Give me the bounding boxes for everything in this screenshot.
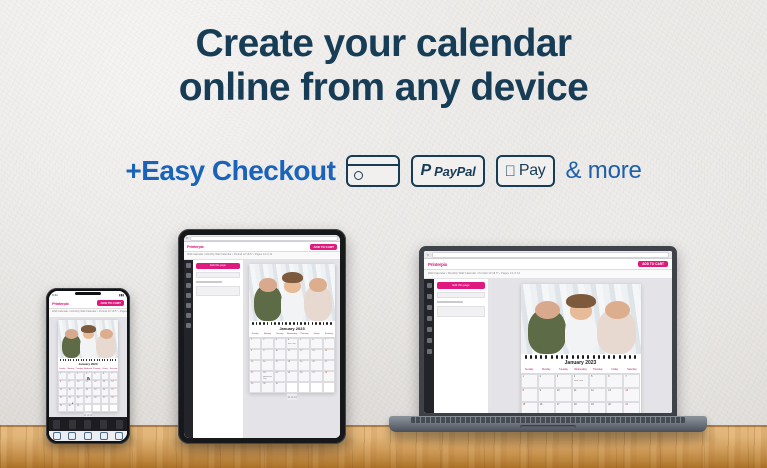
rail-icon-background[interactable] xyxy=(186,313,191,318)
binding-ring-icon xyxy=(252,322,254,325)
calendar-day-cell[interactable]: 14 xyxy=(109,380,118,388)
binding-ring-icon xyxy=(107,359,108,361)
calendar-cell-blank xyxy=(298,382,310,393)
binding-ring-icon xyxy=(97,359,98,361)
photo-hair-kid xyxy=(81,325,96,333)
binding-ring-icon xyxy=(300,322,302,325)
binding-ring-icon xyxy=(551,355,553,359)
calendar-day-cell[interactable]: 25 xyxy=(286,371,298,382)
calendar-day-event: Anniversary Day xyxy=(263,376,271,380)
page-indicator[interactable]: 14 of 14 xyxy=(287,393,296,400)
calendar-day-number: 17 xyxy=(77,389,79,391)
calendar-day-number: 20 xyxy=(312,361,314,363)
binding-ring-icon xyxy=(613,355,615,359)
binding-ring-icon xyxy=(572,355,574,359)
calendar-day-cell[interactable]: 12 xyxy=(298,349,310,360)
calendar-day-cell[interactable]: 19 xyxy=(92,388,101,396)
layout-field[interactable] xyxy=(437,292,485,298)
calendar-day-cell[interactable]: 5 xyxy=(298,338,310,349)
calendar-day-number: 4 xyxy=(574,375,575,378)
calendar-page[interactable]: January 2023 SundayMondayTuesdayWednesda… xyxy=(58,320,118,412)
calendar-day-cell[interactable]: 17 xyxy=(555,402,572,413)
calendar-day-cell[interactable]: 13 xyxy=(606,388,623,402)
phone-nav-bar[interactable] xyxy=(49,431,127,441)
calendar-day-cell[interactable]: 21 xyxy=(623,402,640,413)
calendar-day-number: 13 xyxy=(103,381,105,383)
calendar-day-cell[interactable]: 8 xyxy=(521,388,538,402)
calendar-day-cell[interactable]: 3 xyxy=(274,338,286,349)
calendar-day-number: 24 xyxy=(77,397,79,399)
address-bar[interactable] xyxy=(190,236,338,241)
calendar-day-number: 18 xyxy=(86,389,88,391)
calendar-day-cell[interactable]: 1 xyxy=(249,338,261,349)
calendar-day-number: 9 xyxy=(69,381,70,383)
calendar-day-cell[interactable]: 31 xyxy=(274,382,286,393)
binding-ring-icon xyxy=(271,322,273,325)
calendar-day-cell[interactable]: 27 xyxy=(310,371,322,382)
rail-icon-layouts[interactable] xyxy=(186,283,191,288)
calendar-day-cell[interactable]: 30 xyxy=(261,382,273,393)
laptop-keyboard[interactable] xyxy=(411,417,685,423)
binding-ring-icon xyxy=(81,359,82,361)
calendar-day-number: 9 xyxy=(540,389,541,392)
photo-dropzone[interactable] xyxy=(196,286,240,296)
family-photo[interactable] xyxy=(58,320,118,358)
binding-ring-icon xyxy=(525,355,527,359)
binding-ring-icon xyxy=(624,355,626,359)
laptop-app: Printerpix ADD TO CART Wall Calendar • M… xyxy=(424,251,672,413)
calendar-day-number: 26 xyxy=(94,397,96,399)
binding-ring-icon xyxy=(545,355,547,359)
binding-ring-icon xyxy=(285,322,287,325)
tablet-screen[interactable]: Printerpix ADD TO CART Wall Calendar • M… xyxy=(184,235,340,438)
binding-ring-icon xyxy=(115,359,116,361)
calendar-grid[interactable]: SundayMondayTuesdayWednesdayThursdayFrid… xyxy=(58,367,118,412)
calendar-day-number: 25 xyxy=(288,372,290,374)
calendar-day-cell[interactable]: 20 xyxy=(101,388,110,396)
calendar-day-cell[interactable]: 19 xyxy=(589,402,606,413)
calendar-day-event: New Year xyxy=(288,343,296,345)
rail-icon-stickers[interactable] xyxy=(427,327,432,332)
easy-checkout-label: +Easy Checkout xyxy=(125,155,335,187)
brand-logo[interactable]: Printerpix xyxy=(187,244,204,249)
calendar-day-number: 31 xyxy=(276,383,278,385)
binding-ring-icon xyxy=(587,355,589,359)
edit-page-button[interactable]: Edit this page xyxy=(196,263,240,269)
card-stripe xyxy=(348,164,398,166)
photo-face-mom xyxy=(100,329,113,339)
forward-icon[interactable] xyxy=(68,432,76,440)
calendar-day-cell[interactable]: 26 xyxy=(298,371,310,382)
calendar-day-cell[interactable]: 5 xyxy=(92,372,101,380)
photo-person-kid xyxy=(80,337,96,358)
calendar-cell-blank xyxy=(101,404,110,412)
phone-status-icons: ▮▮▮ xyxy=(119,293,124,297)
calendar-day-cell[interactable]: 1 xyxy=(58,372,67,380)
calendar-day-cell[interactable]: 21 xyxy=(109,388,118,396)
calendar-cell-blank xyxy=(310,382,322,393)
binding-ring-icon xyxy=(540,355,542,359)
rail-icon-layouts[interactable] xyxy=(427,305,432,310)
calendar-day-cell[interactable]: 16 xyxy=(261,360,273,371)
calendar-day-number: 2 xyxy=(69,373,70,375)
phone-editor-toolbar[interactable] xyxy=(49,417,127,431)
calendar-day-number: 19 xyxy=(591,403,594,406)
calendar-day-number: 8 xyxy=(60,381,61,383)
add-to-cart-button[interactable]: ADD TO CART xyxy=(310,244,337,250)
hero-scene: Create your calendar online from any dev… xyxy=(0,0,767,468)
my-photos-label xyxy=(437,301,463,303)
phone-app: 9:41 ▮▮▮ Printerpix ADD TO CART Wall Cal… xyxy=(49,291,127,441)
add-to-cart-button[interactable]: ADD TO CART xyxy=(97,300,124,306)
calendar-cell-blank xyxy=(92,404,101,412)
calendar-day-cell[interactable]: 12 xyxy=(92,380,101,388)
calendar-day-number: 25 xyxy=(86,397,88,399)
laptop-app-header: Printerpix ADD TO CART xyxy=(424,259,672,270)
rail-icon-settings[interactable] xyxy=(186,323,191,328)
calendar-day-cell[interactable]: 14 xyxy=(323,349,335,360)
rail-icon-settings[interactable] xyxy=(427,349,432,354)
calendar-day-cell[interactable]: 10 xyxy=(555,388,572,402)
calendar-day-cell[interactable]: 24 xyxy=(75,396,84,404)
calendar-grid[interactable]: SundayMondayTuesdayWednesdayThursdayFrid… xyxy=(521,367,641,413)
calendar-day-cell[interactable]: 31 xyxy=(75,404,84,412)
calendar-day-cell[interactable]: 29 xyxy=(58,404,67,412)
calendar-day-cell[interactable]: 10 xyxy=(274,349,286,360)
laptop-browser-chrome[interactable] xyxy=(424,251,672,259)
apple-pay-icon[interactable]:  Pay xyxy=(496,155,555,187)
calendar-day-number: 3 xyxy=(557,375,558,378)
calendar-day-cell[interactable]: 18 xyxy=(572,402,589,413)
editor-side-panel: Edit this page xyxy=(193,260,244,438)
calendar-day-cell[interactable]: 7 xyxy=(109,372,118,380)
calendar-day-cell[interactable]: 30 xyxy=(67,404,76,412)
calendar-day-number: 16 xyxy=(540,403,543,406)
product-breadcrumb: Wall Calendar • Monthly Wall Calendar • … xyxy=(184,252,340,260)
calendar-day-number: 1 xyxy=(523,375,524,378)
paypal-icon[interactable]: P PayPal xyxy=(411,155,484,187)
family-photo[interactable] xyxy=(521,284,641,354)
family-photo[interactable] xyxy=(249,264,335,321)
binding-ring-icon xyxy=(60,359,61,361)
calendar-day-number: 8 xyxy=(251,350,252,352)
calendar-day-number: 18 xyxy=(574,403,577,406)
calendar-day-cell[interactable]: 13 xyxy=(101,380,110,388)
calendar-day-number: 18 xyxy=(288,361,290,363)
photo-person-kid xyxy=(281,289,304,321)
toolbar-icon-photos[interactable] xyxy=(69,420,76,429)
calendar-day-number: 21 xyxy=(325,361,327,363)
calendar-day-number: 14 xyxy=(325,350,327,352)
tabs-icon[interactable] xyxy=(100,432,108,440)
calendar-day-cell[interactable]: 23Anniversary Day xyxy=(67,396,76,404)
rail-icon-stickers[interactable] xyxy=(186,303,191,308)
calendar-day-number: 19 xyxy=(300,361,302,363)
rail-icon-background[interactable] xyxy=(427,338,432,343)
binding-ring-icon xyxy=(297,322,299,325)
calendar-weekday-header: Wednesday xyxy=(572,367,589,374)
calendar-day-cell[interactable]: 7 xyxy=(623,374,640,388)
calendar-day-number: 22 xyxy=(251,372,253,374)
calendar-day-cell[interactable]: 6 xyxy=(606,374,623,388)
editor-side-panel: Edit this page xyxy=(434,279,489,413)
tablet-browser-chrome[interactable] xyxy=(184,235,340,242)
binding-ring-icon xyxy=(274,322,276,325)
binding-ring-icon xyxy=(608,355,610,359)
calendar-day-cell[interactable]: 4New Year xyxy=(286,338,298,349)
calendar-day-number: 10 xyxy=(557,389,560,392)
calendar-day-cell[interactable]: 29 xyxy=(249,382,261,393)
toolbar-icon-layout[interactable] xyxy=(53,420,60,429)
calendar-day-cell[interactable]: 6 xyxy=(310,338,322,349)
calendar-day-cell[interactable]: 18 xyxy=(286,360,298,371)
toolbar-icon-text[interactable] xyxy=(84,420,91,429)
calendar-day-cell[interactable]: 11 xyxy=(286,349,298,360)
laptop-base xyxy=(389,416,707,432)
editor-tool-rail[interactable] xyxy=(424,279,434,413)
calendar-day-cell[interactable]: 4New Year xyxy=(572,374,589,388)
home-icon[interactable] xyxy=(84,432,92,440)
headline-line-1: Create your calendar xyxy=(0,22,767,66)
calendar-day-cell[interactable]: 9 xyxy=(67,380,76,388)
tablet-canvas: January 2023 SundayMondayTuesdayWednesda… xyxy=(244,260,340,438)
calendar-day-number: 7 xyxy=(625,375,626,378)
toolbar-icon-stickers[interactable] xyxy=(100,420,107,429)
binding-ring-icon xyxy=(530,355,532,359)
calendar-day-cell[interactable]: 20 xyxy=(606,402,623,413)
calendar-day-cell[interactable]: 10 xyxy=(75,380,84,388)
calendar-day-number: 13 xyxy=(608,389,611,392)
tablet-app-body: Edit this page xyxy=(184,260,340,438)
calendar-day-cell[interactable]: 16 xyxy=(538,402,555,413)
calendar-day-cell[interactable]: 17 xyxy=(75,388,84,396)
binding-ring-icon xyxy=(312,322,314,325)
calendar-day-number: 16 xyxy=(69,389,71,391)
calendar-day-number: 23 xyxy=(263,372,265,374)
calendar-page[interactable]: January 2023 SundayMondayTuesdayWednesda… xyxy=(521,284,641,413)
photo-person-kid xyxy=(565,315,597,354)
calendar-day-cell[interactable]: 11 xyxy=(572,388,589,402)
phone-status-time: 9:41 xyxy=(52,293,58,297)
calendar-day-number: 15 xyxy=(251,361,253,363)
phone-notch xyxy=(75,292,101,295)
calendar-day-cell[interactable]: 2 xyxy=(261,338,273,349)
and-more-label: & more xyxy=(566,157,642,185)
calendar-block: January 2023 SundayMondayTuesdayWednesda… xyxy=(58,361,118,412)
binding-ring-icon xyxy=(535,355,537,359)
binding-ring-icon xyxy=(76,359,77,361)
calendar-day-number: 10 xyxy=(276,350,278,352)
binding-ring-icon xyxy=(577,355,579,359)
binding-ring-icon xyxy=(68,359,69,361)
product-breadcrumb: Wall Calendar • Monthly Wall Calendar • … xyxy=(424,270,672,279)
calendar-day-number: 29 xyxy=(251,383,253,385)
calendar-day-number: 5 xyxy=(94,373,95,375)
address-bar[interactable] xyxy=(432,252,669,258)
brand-logo[interactable]: Printerpix xyxy=(428,262,447,267)
calendar-weekday-header: Thursday xyxy=(589,367,606,374)
calendar-day-number: 27 xyxy=(103,397,105,399)
apple-logo-icon:  xyxy=(505,164,516,179)
calendar-day-cell[interactable]: 22 xyxy=(249,371,261,382)
calendar-day-cell[interactable]: 25 xyxy=(84,396,93,404)
calendar-weekday-header: Friday xyxy=(606,367,623,374)
calendar-day-number: 28 xyxy=(111,397,113,399)
calendar-grid[interactable]: SundayMondayTuesdayWednesdayThursdayFrid… xyxy=(249,332,335,393)
calendar-day-number: 5 xyxy=(591,375,592,378)
calendar-day-number: 21 xyxy=(111,389,113,391)
calendar-day-cell[interactable]: 3 xyxy=(75,372,84,380)
calendar-day-cell[interactable]: 20 xyxy=(310,360,322,371)
calendar-weekday-header: Monday xyxy=(538,367,555,374)
calendar-day-number: 1 xyxy=(251,339,252,341)
rail-icon-pages[interactable] xyxy=(186,263,191,268)
apple-pay-label: Pay xyxy=(519,162,546,180)
calendar-day-cell[interactable]: 2 xyxy=(67,372,76,380)
chrome-dot-icon xyxy=(427,254,429,256)
calendar-day-number: 10 xyxy=(77,381,79,383)
calendar-day-number: 27 xyxy=(312,372,314,374)
rail-icon-photos[interactable] xyxy=(427,294,432,299)
binding-ring-icon xyxy=(110,359,111,361)
calendar-day-number: 30 xyxy=(263,383,265,385)
photo-dropzone[interactable] xyxy=(437,306,485,317)
calendar-day-cell[interactable]: 23Anniversary Day xyxy=(261,371,273,382)
rail-icon-pages[interactable] xyxy=(427,283,432,288)
rail-icon-text[interactable] xyxy=(427,316,432,321)
calendar-day-cell[interactable]: 15 xyxy=(249,360,261,371)
calendar-day-number: 11 xyxy=(574,389,576,392)
phone-screen[interactable]: 9:41 ▮▮▮ Printerpix ADD TO CART Wall Cal… xyxy=(49,291,127,441)
calendar-page[interactable]: January 2023 SundayMondayTuesdayWednesda… xyxy=(249,264,335,393)
photo-face-mom xyxy=(605,301,630,319)
calendar-day-cell[interactable]: 2 xyxy=(538,374,555,388)
calendar-cell-blank xyxy=(109,404,118,412)
calendar-cell-blank xyxy=(286,382,298,393)
calendar-day-number: 26 xyxy=(300,372,302,374)
calendar-day-cell[interactable]: 28 xyxy=(109,396,118,404)
binding-ring-icon xyxy=(86,359,87,361)
laptop-screen[interactable]: Printerpix ADD TO CART Wall Calendar • M… xyxy=(424,251,672,413)
calendar-day-number: 3 xyxy=(77,373,78,375)
calendar-day-cell[interactable]: 24 xyxy=(274,371,286,382)
back-icon[interactable] xyxy=(53,432,61,440)
calendar-day-number: 7 xyxy=(325,339,326,341)
calendar-day-number: 9 xyxy=(263,350,264,352)
calendar-day-number: 2 xyxy=(540,375,541,378)
calendar-day-cell[interactable]: 8 xyxy=(58,380,67,388)
calendar-day-cell[interactable]: 16 xyxy=(67,388,76,396)
binding-ring-icon xyxy=(319,322,321,325)
easy-checkout-row: +Easy Checkout P PayPal  Pay & more xyxy=(0,155,767,187)
toolbar-icon-background[interactable] xyxy=(116,420,123,429)
edit-page-button[interactable]: Edit this page xyxy=(437,282,485,289)
calendar-day-cell[interactable]: 21 xyxy=(323,360,335,371)
photo-face-dad xyxy=(65,329,78,339)
calendar-day-cell[interactable]: 9 xyxy=(538,388,555,402)
binding-ring-icon xyxy=(634,355,636,359)
calendar-day-number: 11 xyxy=(86,381,88,383)
rail-icon-photos[interactable] xyxy=(186,273,191,278)
binding-ring-icon xyxy=(598,355,600,359)
calendar-day-cell[interactable]: 15 xyxy=(58,388,67,396)
credit-card-icon[interactable] xyxy=(346,155,400,187)
phone-app-header: Printerpix ADD TO CART xyxy=(49,298,127,309)
calendar-day-number: 17 xyxy=(276,361,278,363)
calendar-day-cell[interactable]: 17 xyxy=(274,360,286,371)
calendar-day-cell[interactable]: 5 xyxy=(589,374,606,388)
calendar-day-number: 8 xyxy=(523,389,524,392)
calendar-day-number: 6 xyxy=(312,339,313,341)
calendar-day-cell[interactable]: 1 xyxy=(521,374,538,388)
add-to-cart-button[interactable]: ADD TO CART xyxy=(638,261,668,267)
calendar-day-cell[interactable]: 12 xyxy=(589,388,606,402)
binding-ring-icon xyxy=(94,359,95,361)
paypal-label: PayPal xyxy=(434,164,475,179)
calendar-day-cell[interactable]: 26 xyxy=(92,396,101,404)
binding-ring-icon xyxy=(556,355,558,359)
calendar-day-number: 14 xyxy=(111,381,113,383)
calendar-day-cell[interactable]: 28 xyxy=(323,371,335,382)
calendar-day-cell[interactable]: 19 xyxy=(298,360,310,371)
binding-ring-icon xyxy=(566,355,568,359)
brand-logo[interactable]: Printerpix xyxy=(52,301,69,306)
calendar-day-number: 22 xyxy=(60,397,62,399)
menu-icon[interactable] xyxy=(115,432,123,440)
binding-ring-icon xyxy=(304,322,306,325)
calendar-day-cell[interactable]: 3 xyxy=(555,374,572,388)
editor-tool-rail[interactable] xyxy=(184,260,193,438)
calendar-day-cell[interactable]: 4New Year xyxy=(84,372,93,380)
laptop-canvas: January 2023 SundayMondayTuesdayWednesda… xyxy=(489,279,672,413)
calendar-day-number: 3 xyxy=(276,339,277,341)
calendar-day-number: 6 xyxy=(103,373,104,375)
calendar-day-cell[interactable]: 22 xyxy=(58,396,67,404)
calendar-month-title: January 2023 xyxy=(521,359,641,367)
calendar-day-number: 21 xyxy=(625,403,628,406)
binding-ring-icon xyxy=(289,322,291,325)
calendar-day-cell[interactable]: 7 xyxy=(323,338,335,349)
calendar-day-number: 28 xyxy=(325,372,327,374)
binding-ring-icon xyxy=(582,355,584,359)
calendar-day-cell[interactable]: 14 xyxy=(623,388,640,402)
chrome-dot-icon xyxy=(186,237,188,239)
card-chip-icon xyxy=(354,171,363,180)
binding-ring-icon xyxy=(603,355,605,359)
calendar-weekday-header: Tuesday xyxy=(555,367,572,374)
calendar-day-number: 4 xyxy=(288,339,289,341)
calendar-day-cell[interactable]: 18 xyxy=(84,388,93,396)
calendar-weekday-header: Saturday xyxy=(623,367,640,374)
binding-ring-icon xyxy=(326,322,328,325)
calendar-day-cell[interactable]: 9 xyxy=(261,349,273,360)
laptop-trackpad[interactable] xyxy=(520,425,576,429)
calendar-day-cell[interactable]: 27 xyxy=(101,396,110,404)
calendar-day-cell[interactable]: 15 xyxy=(521,402,538,413)
calendar-day-number: 12 xyxy=(94,381,96,383)
layout-field[interactable] xyxy=(196,272,240,278)
calendar-day-number: 13 xyxy=(312,350,314,352)
calendar-day-number: 17 xyxy=(557,403,560,406)
calendar-day-number: 16 xyxy=(263,361,265,363)
rail-icon-text[interactable] xyxy=(186,293,191,298)
calendar-day-number: 12 xyxy=(300,350,302,352)
calendar-day-cell[interactable]: 6 xyxy=(101,372,110,380)
calendar-day-cell[interactable]: 8 xyxy=(249,349,261,360)
calendar-day-cell[interactable]: 13 xyxy=(310,349,322,360)
calendar-day-cell[interactable]: 11 xyxy=(84,380,93,388)
binding-ring-icon xyxy=(593,355,595,359)
